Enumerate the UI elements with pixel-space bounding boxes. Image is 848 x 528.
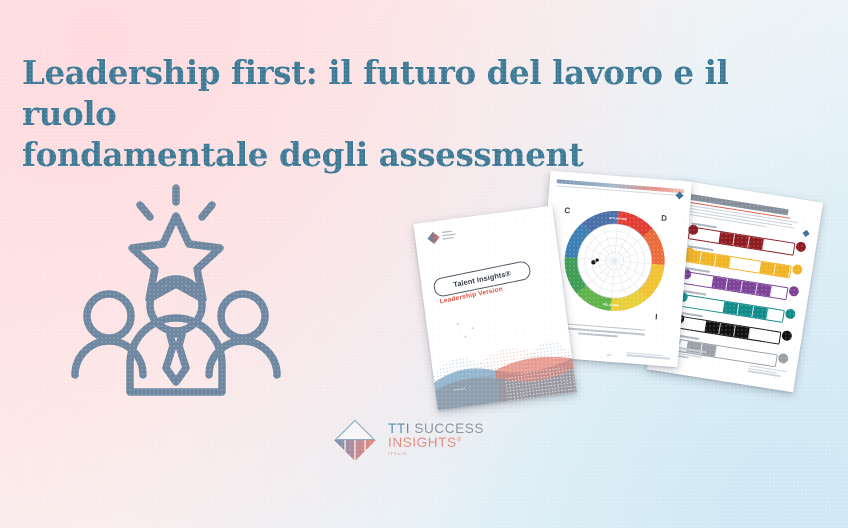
leadership-team-star-icon <box>62 178 302 400</box>
logo-wordmark: TTI SUCCESS INSIGHTS® ITALIA <box>388 422 530 456</box>
wheel-legend <box>556 322 671 343</box>
disc-wheel-chart: ATTUATORE RELATORE C D S I <box>551 198 678 325</box>
logo-subtitle: ITALIA <box>388 451 530 456</box>
tti-badge-icon <box>802 224 811 233</box>
wheel-page-header <box>556 179 684 198</box>
svg-text:D: D <box>661 214 668 223</box>
assessment-report-stack: ATTUATORE RELATORE C D S I <box>405 160 835 410</box>
promo-banner: Leadership first: il futuro del lavoro e… <box>0 0 848 528</box>
tti-diamond-icon <box>330 415 380 465</box>
page-number <box>607 354 611 356</box>
svg-text:C: C <box>564 206 571 215</box>
logo-word-insights: INSIGHTS <box>388 435 457 450</box>
wheel-footer <box>626 352 670 361</box>
talent-insights-cover: Talent Insights® Leadership Version <box>413 206 576 411</box>
page-title: Leadership first: il futuro del lavoro e… <box>22 52 832 175</box>
svg-text:I: I <box>655 312 658 321</box>
tti-badge-icon <box>675 187 685 197</box>
tti-success-insights-logo: TTI SUCCESS INSIGHTS® ITALIA <box>330 412 530 468</box>
cover-decoration <box>430 331 577 411</box>
tti-logo-small <box>425 226 467 246</box>
logo-trademark: ® <box>457 437 462 443</box>
